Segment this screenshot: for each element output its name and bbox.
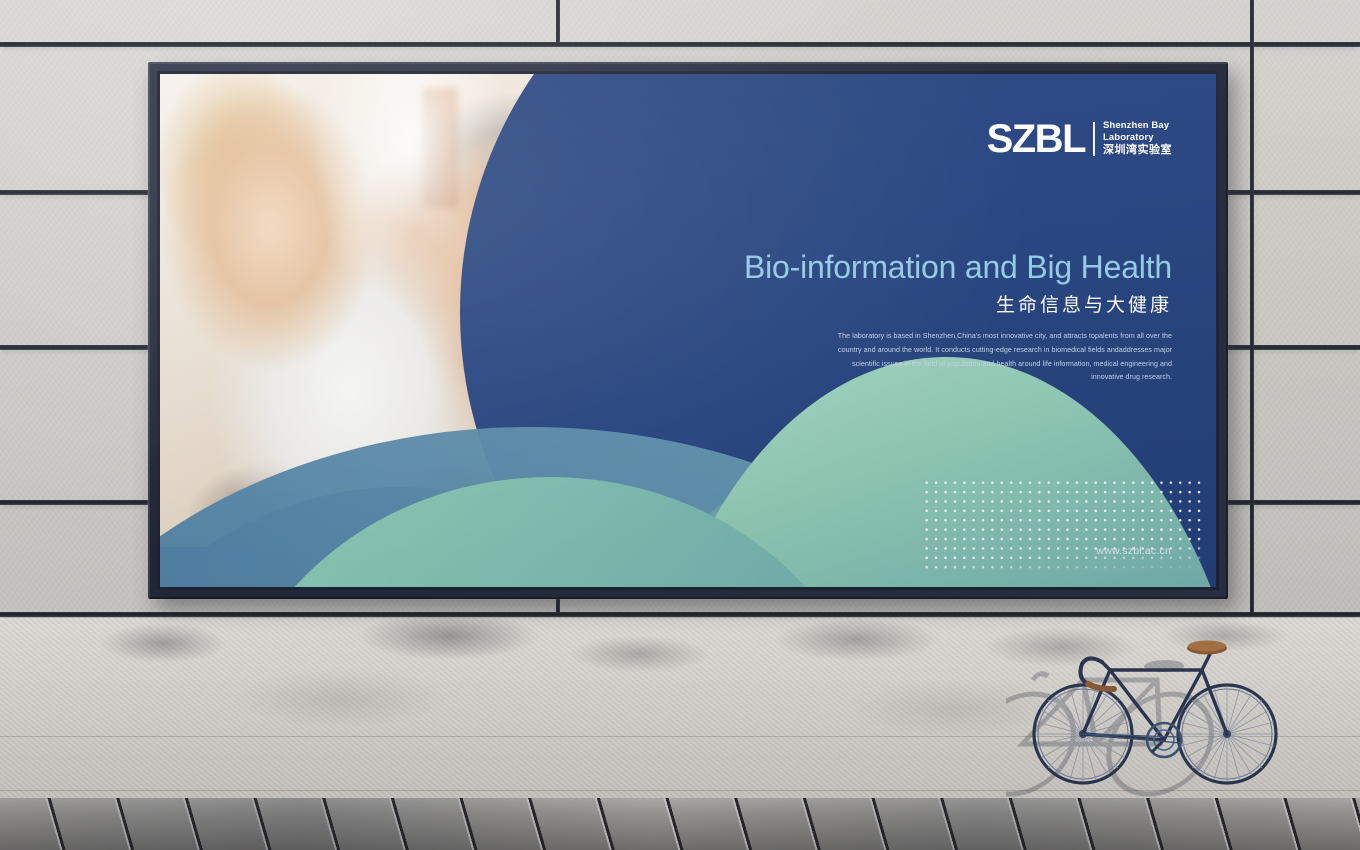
logo-name-cn: 深圳湾实验室 (1103, 144, 1172, 157)
poster-headline: Bio-information and Big Health 生命信息与大健康 (744, 249, 1172, 318)
poster-body-text: The laboratory is based in Shenzhen,Chin… (824, 330, 1172, 385)
logo-wordmark: SZBL (987, 119, 1085, 159)
poster: SZBL Shenzhen Bay Laboratory 深圳湾实验室 Bio-… (160, 74, 1216, 587)
billboard-inner-frame: SZBL Shenzhen Bay Laboratory 深圳湾实验室 Bio-… (157, 71, 1219, 590)
wall-seam-horizontal (0, 42, 1360, 47)
headline-english: Bio-information and Big Health (744, 249, 1172, 286)
wall-seam-vertical (556, 0, 560, 42)
wall-seam-horizontal (0, 612, 1360, 617)
bicycle (1006, 622, 1298, 800)
logo-name-en-line2: Laboratory (1103, 132, 1172, 144)
logo-name-block: Shenzhen Bay Laboratory 深圳湾实验室 (1103, 120, 1172, 158)
dot-grid-pattern (922, 478, 1204, 575)
billboard[interactable]: SZBL Shenzhen Bay Laboratory 深圳湾实验室 Bio-… (148, 62, 1228, 599)
logo-divider (1093, 122, 1095, 156)
headline-chinese: 生命信息与大健康 (744, 295, 1172, 318)
poster-url[interactable]: www.szbl.ac.cn (1096, 545, 1171, 557)
wall-seam-vertical (1250, 0, 1254, 612)
bicycle-saddle (1187, 641, 1227, 655)
logo-name-en-line1: Shenzhen Bay (1103, 120, 1172, 132)
street-scene: SZBL Shenzhen Bay Laboratory 深圳湾实验室 Bio-… (0, 0, 1360, 850)
pavement (0, 798, 1360, 850)
szbl-logo[interactable]: SZBL Shenzhen Bay Laboratory 深圳湾实验室 (987, 119, 1172, 159)
